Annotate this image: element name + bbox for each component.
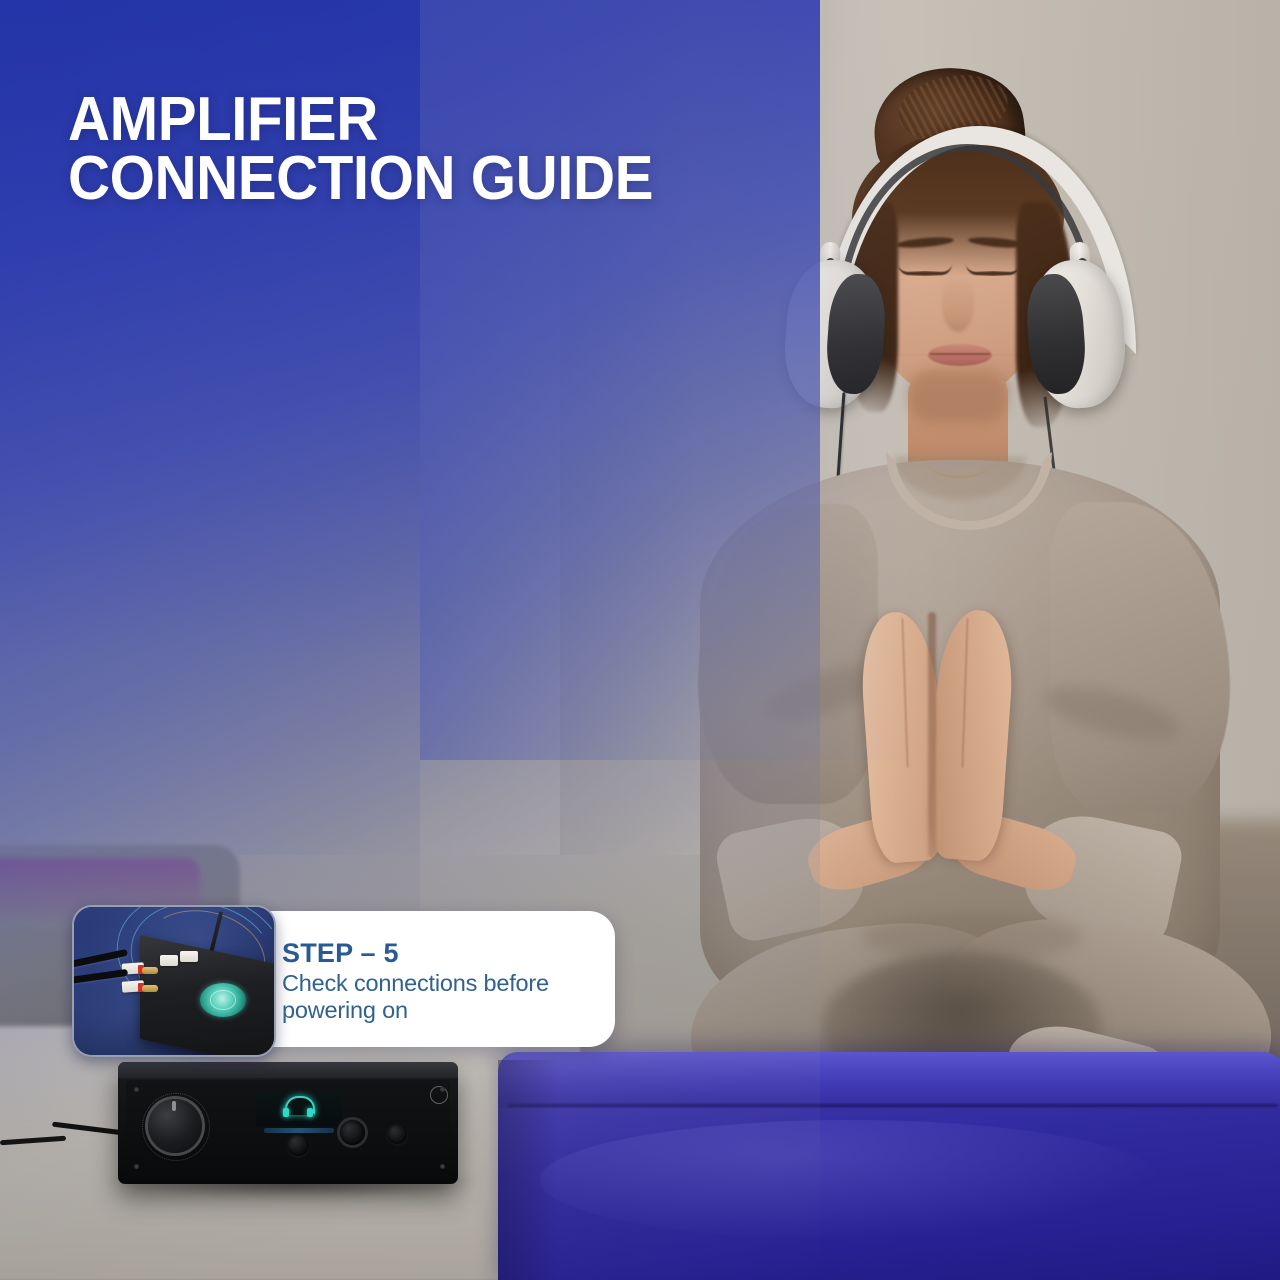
- amplifier-screw: [134, 1087, 139, 1092]
- amplifier-screw: [440, 1164, 445, 1169]
- amplifier-jack-1[interactable]: [287, 1134, 309, 1156]
- palms-together: [928, 612, 936, 858]
- infographic-canvas: AMPLIFIER CONNECTION GUIDE: [0, 0, 1280, 1280]
- step-thumbnail-5: [72, 905, 276, 1057]
- headphone-icon-earcup-left: [283, 1108, 289, 1117]
- title-line-1: AMPLIFIER: [68, 85, 378, 154]
- step-card-5[interactable]: STEP – 5 Check connections before poweri…: [70, 905, 615, 1053]
- amplifier-screw: [440, 1087, 445, 1092]
- amplifier-knob-indicator: [172, 1101, 176, 1111]
- shoulder-right: [1050, 502, 1230, 812]
- amplifier-brand-logo: [430, 1086, 448, 1104]
- step-text-block: STEP – 5 Check connections before poweri…: [282, 939, 608, 1023]
- lap-fold: [862, 912, 1082, 962]
- thumbnail-art-connections-closeup: [74, 907, 274, 1055]
- amplifier-display-bar: [264, 1128, 334, 1133]
- step-description: Check connections before powering on: [282, 970, 608, 1023]
- amplifier-screw: [134, 1164, 139, 1169]
- headphone-icon-earcup-right: [307, 1108, 313, 1117]
- steps-list: STEP – 1 Connect banana plugs to speaker…: [70, 205, 615, 1080]
- title-line-2: CONNECTION GUIDE: [68, 149, 764, 209]
- amplifier-jack-3[interactable]: [387, 1124, 407, 1144]
- amplifier-jack-2[interactable]: [340, 1120, 365, 1145]
- step-label: STEP – 5: [282, 939, 608, 967]
- page-title: AMPLIFIER CONNECTION GUIDE: [68, 90, 764, 209]
- neck-shadow: [908, 370, 1008, 422]
